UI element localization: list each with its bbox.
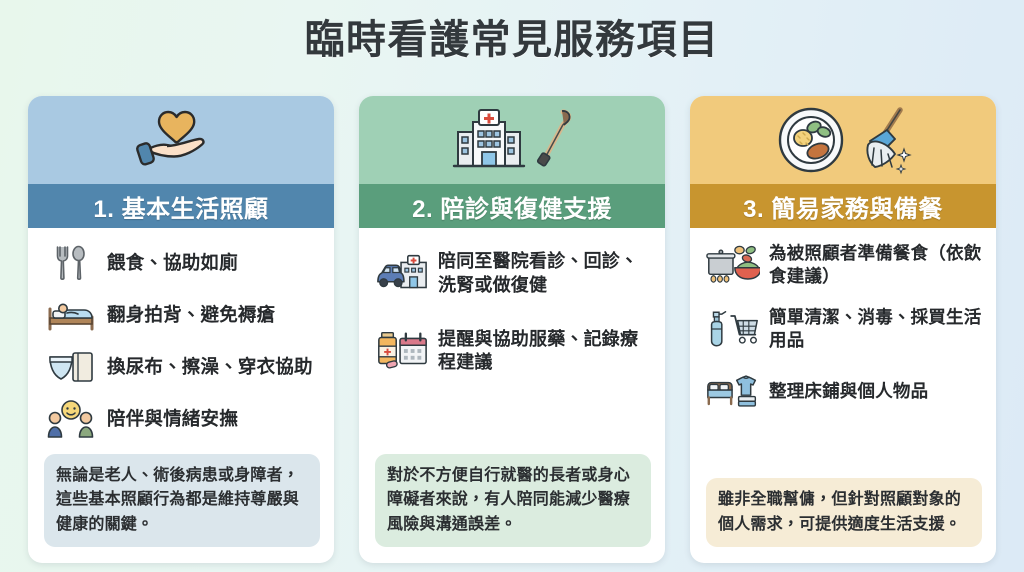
list-item-label: 餵食、協助如廁: [107, 251, 238, 275]
list-item: 陪同至醫院看診、回診、洗腎或做復健: [375, 250, 651, 298]
card-1-item-list: 餵食、協助如廁 翻身拍背、避免褥瘡: [28, 228, 334, 446]
page-title: 臨時看護常見服務項目: [0, 18, 1024, 62]
list-item-label: 換尿布、擦澡、穿衣協助: [107, 355, 313, 379]
list-item-label: 陪伴與情緒安撫: [107, 407, 238, 431]
list-item: 換尿布、擦澡、穿衣協助: [44, 346, 320, 388]
card-2-note: 對於不方便自行就醫的長者或身心障礙者來說，有人陪同能減少醫療風險與溝通誤差。: [375, 454, 651, 547]
plate-of-food-icon: [772, 105, 850, 175]
card-basic-daily-care: 1. 基本生活照顧 餵食、協助如廁: [28, 96, 334, 563]
list-item-label: 翻身拍背、避免褥瘡: [107, 303, 275, 327]
person-in-bed-icon: [44, 294, 98, 336]
card-1-illustration: [28, 96, 334, 184]
list-item: 為被照顧者準備餐食（依飲食建議）: [706, 242, 982, 288]
card-2-item-list: 陪同至醫院看診、回診、洗腎或做復健: [359, 228, 665, 440]
card-2-illustration: [359, 96, 665, 184]
list-item-label: 提醒與協助服藥、記錄療程建議: [438, 328, 651, 376]
walking-cane-icon: [536, 106, 572, 174]
list-item: 簡單清潔、消毒、採買生活用品: [706, 306, 982, 352]
card-3-illustration: [690, 96, 996, 184]
card-2-header: 2. 陪診與復健支援: [359, 184, 665, 228]
hospital-icon: [452, 106, 526, 174]
pot-salad-icon: [706, 244, 760, 286]
service-cards-row: 1. 基本生活照顧 餵食、協助如廁: [0, 96, 1024, 563]
list-item-label: 為被照顧者準備餐食（依飲食建議）: [769, 242, 982, 288]
hand-holding-heart-icon: [133, 104, 229, 176]
card-medical-escort-rehab: 2. 陪診與復健支援: [359, 96, 665, 563]
title-bar: 臨時看護常見服務項目: [0, 0, 1024, 78]
medicine-calendar-icon: [375, 330, 429, 372]
car-hospital-icon: [375, 253, 429, 295]
list-item-label: 整理床鋪與個人物品: [769, 380, 928, 403]
list-item: 整理床鋪與個人物品: [706, 370, 982, 412]
fork-spoon-icon: [44, 242, 98, 284]
list-item: 餵食、協助如廁: [44, 242, 320, 284]
companionship-icon: [44, 398, 98, 440]
list-item: 翻身拍背、避免褥瘡: [44, 294, 320, 336]
list-item: 提醒與協助服藥、記錄療程建議: [375, 328, 651, 376]
list-item-label: 簡單清潔、消毒、採買生活用品: [769, 306, 982, 352]
bed-clothes-icon: [706, 370, 760, 412]
card-3-note: 雖非全職幫傭，但針對照顧對象的個人需求，可提供適度生活支援。: [706, 478, 982, 547]
list-item: 陪伴與情緒安撫: [44, 398, 320, 440]
card-1-note: 無論是老人、術後病患或身障者，這些基本照顧行為都是維持尊嚴與健康的關鍵。: [44, 454, 320, 547]
card-1-header: 1. 基本生活照顧: [28, 184, 334, 228]
card-housework-meals: 3. 簡易家務與備餐: [690, 96, 996, 563]
card-3-item-list: 為被照顧者準備餐食（依飲食建議）: [690, 228, 996, 468]
diaper-towel-icon: [44, 346, 98, 388]
list-item-label: 陪同至醫院看診、回診、洗腎或做復健: [438, 250, 651, 298]
spray-cart-icon: [706, 308, 760, 350]
card-3-header: 3. 簡易家務與備餐: [690, 184, 996, 228]
broom-icon: [860, 105, 914, 175]
